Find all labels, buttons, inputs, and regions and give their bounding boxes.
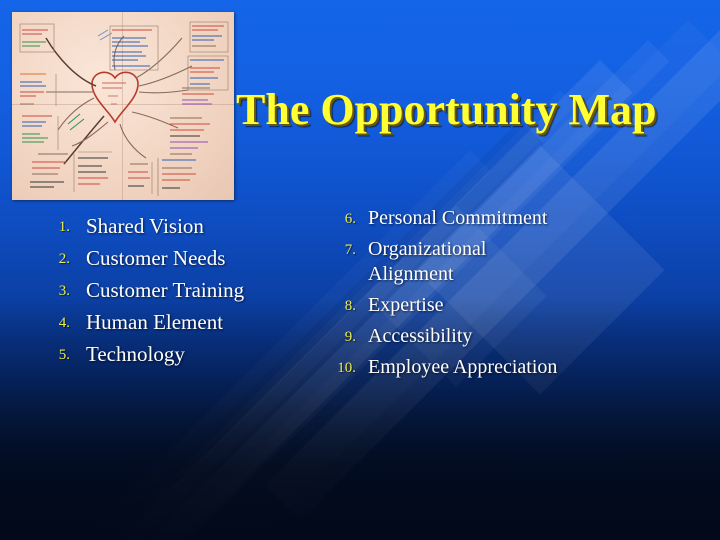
list-item: 10. Employee Appreciation (326, 355, 706, 380)
list-item-label: Technology (86, 342, 185, 367)
list-item: 3. Customer Training (44, 278, 344, 303)
list-item: 1. Shared Vision (44, 214, 344, 239)
opportunity-list-left: 1. Shared Vision 2. Customer Needs 3. Cu… (44, 214, 344, 374)
mind-map-image (12, 12, 234, 200)
list-item-number: 1. (44, 214, 70, 236)
opportunity-list-right: 6. Personal Commitment 7. Organizational… (326, 206, 706, 386)
list-item-number: 3. (44, 278, 70, 300)
list-item-label: Personal Commitment (368, 206, 547, 231)
list-item-number: 5. (44, 342, 70, 364)
list-item-number: 8. (326, 293, 356, 315)
list-item-label: Employee Appreciation (368, 355, 557, 380)
list-item-label: Expertise (368, 293, 444, 318)
list-item: 6. Personal Commitment (326, 206, 706, 231)
mind-map-drawing (12, 12, 234, 200)
list-item: 4. Human Element (44, 310, 344, 335)
list-item-number: 6. (326, 206, 356, 228)
list-item: 5. Technology (44, 342, 344, 367)
list-item-number: 2. (44, 246, 70, 268)
page-title: The Opportunity Map (236, 84, 704, 135)
list-item-label: Customer Training (86, 278, 244, 303)
list-item-number: 10. (326, 355, 356, 377)
list-item: 7. Organizational Alignment (326, 237, 706, 287)
list-item-label: Customer Needs (86, 246, 225, 271)
list-item-number: 9. (326, 324, 356, 346)
list-item-label: Shared Vision (86, 214, 204, 239)
presentation-slide: The Opportunity Map 1. Shared Vision 2. … (0, 0, 720, 540)
list-item: 9. Accessibility (326, 324, 706, 349)
list-item-number: 4. (44, 310, 70, 332)
list-item-number: 7. (326, 237, 356, 259)
list-item: 2. Customer Needs (44, 246, 344, 271)
list-item-label: Organizational Alignment (368, 237, 553, 287)
list-item: 8. Expertise (326, 293, 706, 318)
list-item-label: Human Element (86, 310, 223, 335)
list-item-label: Accessibility (368, 324, 472, 349)
